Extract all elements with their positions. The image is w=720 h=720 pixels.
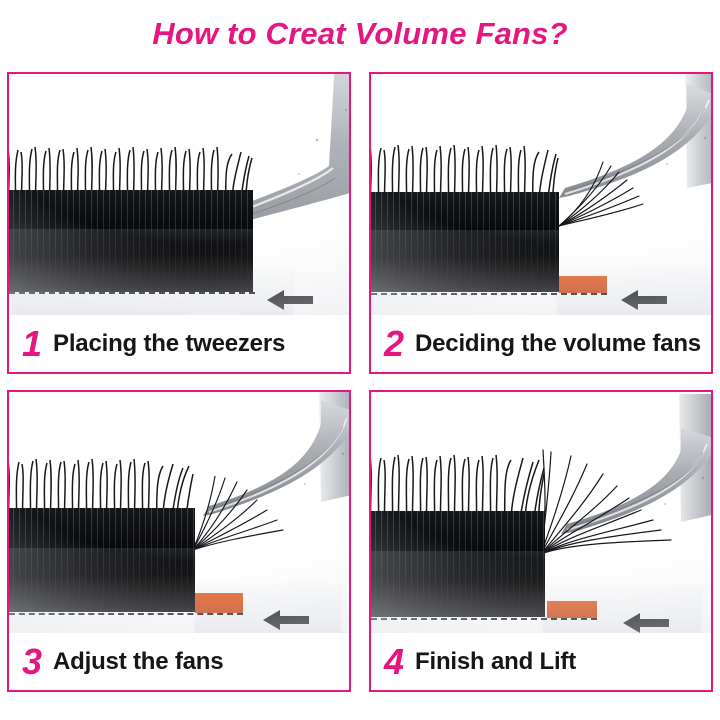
step-caption-1: 1 Placing the tweezers	[9, 315, 349, 372]
step-photo-4	[371, 392, 711, 637]
left-arrow-icon-3	[263, 609, 309, 631]
steps-grid: 1 Placing the tweezers	[7, 72, 713, 692]
infographic-page: How to Creat Volume Fans?	[0, 0, 720, 720]
position-marker-3	[195, 593, 243, 613]
lash-baseline-4	[371, 618, 597, 620]
step-label-4: Finish and Lift	[415, 650, 576, 674]
step-caption-4: 4 Finish and Lift	[371, 633, 711, 690]
step-caption-3: 3 Adjust the fans	[9, 633, 349, 690]
lash-fan-4	[531, 448, 691, 558]
step-number-2: 2	[384, 326, 404, 362]
left-arrow-icon-2	[621, 289, 667, 311]
lash-baseline-3	[9, 613, 243, 615]
lash-fan-3	[185, 476, 305, 554]
step-panel-2[interactable]: 2 Deciding the volume fans	[369, 72, 713, 374]
lash-strip-4	[371, 511, 545, 617]
step-label-1: Placing the tweezers	[53, 332, 285, 356]
step-number-4: 4	[384, 644, 404, 680]
tweezers-3	[195, 392, 349, 562]
step-label-3: Adjust the fans	[53, 650, 223, 674]
step-photo-2	[371, 74, 711, 319]
step-photo-3	[9, 392, 349, 637]
lash-strip-3	[9, 508, 195, 612]
step-panel-4[interactable]: 4 Finish and Lift	[369, 390, 713, 692]
page-title: How to Creat Volume Fans?	[0, 16, 720, 52]
lash-strip-2	[371, 192, 559, 292]
tweezers-4	[539, 394, 711, 580]
step-number-3: 3	[22, 644, 42, 680]
step-photo-1	[9, 74, 349, 319]
lash-baseline-1	[9, 292, 255, 294]
left-arrow-icon-1	[267, 289, 313, 311]
step-number-1: 1	[22, 326, 42, 362]
lash-fan-2	[553, 160, 663, 230]
step-caption-2: 2 Deciding the volume fans	[371, 315, 711, 372]
position-marker-4	[547, 601, 597, 618]
tweezers-2	[547, 74, 711, 248]
lash-baseline-2	[371, 293, 607, 295]
step-panel-1[interactable]: 1 Placing the tweezers	[7, 72, 351, 374]
lash-strip-1	[9, 190, 253, 292]
left-arrow-icon-4	[623, 612, 669, 634]
step-label-2: Deciding the volume fans	[415, 332, 701, 356]
position-marker-2	[559, 276, 607, 293]
step-panel-3[interactable]: 3 Adjust the fans	[7, 390, 351, 692]
